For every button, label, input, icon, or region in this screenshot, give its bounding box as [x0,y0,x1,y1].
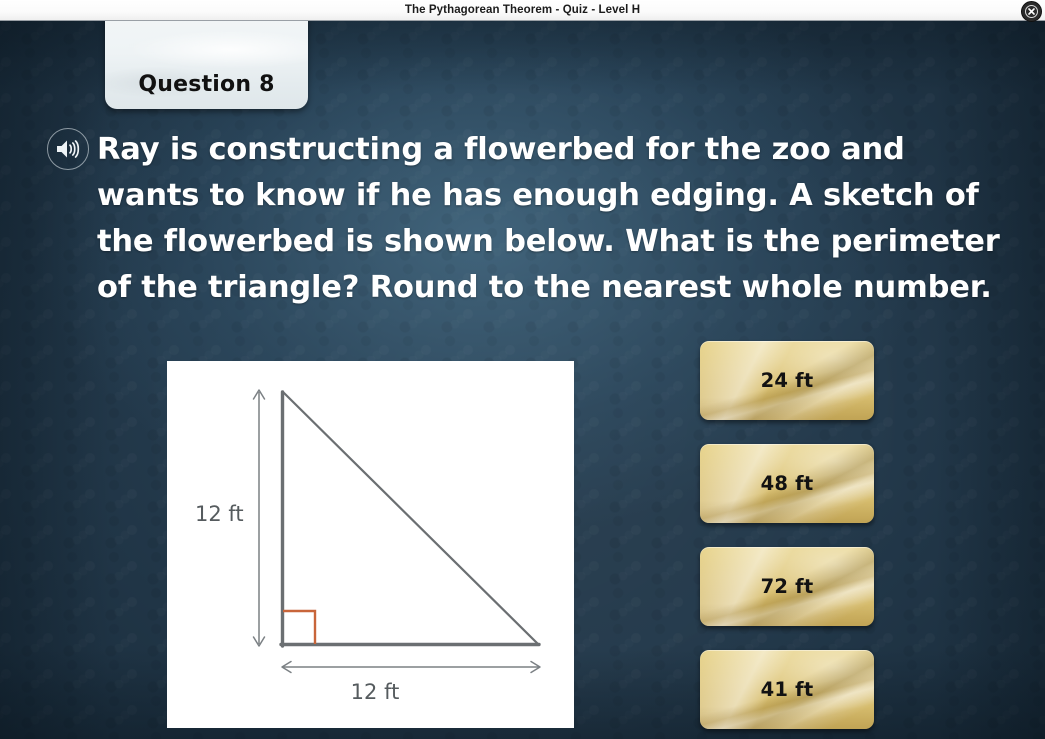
right-triangle-figure: 12 ft 12 ft [167,361,574,728]
question-number-label: Question 8 [138,72,274,97]
speaker-icon [55,138,81,160]
answer-option-1-label: 24 ft [761,369,814,392]
audio-play-button[interactable] [47,128,89,170]
quiz-app-window: The Pythagorean Theorem - Quiz - Level H… [0,0,1045,739]
answer-option-1[interactable]: 24 ft [700,341,874,420]
answer-option-2[interactable]: 48 ft [700,444,874,523]
answer-option-3-label: 72 ft [761,575,814,598]
triangle-hypotenuse [283,392,538,644]
close-button[interactable] [1021,1,1042,22]
answer-choices: 24 ft 48 ft 72 ft 41 ft [700,341,874,739]
triangle-diagram-panel: 12 ft 12 ft [167,361,574,728]
quiz-stage: Question 8 Ray is constructing a flowerb… [0,21,1045,739]
question-prompt-text: Ray is constructing a flowerbed for the … [97,127,1002,311]
answer-option-4-label: 41 ft [761,678,814,701]
vertical-dimension-label: 12 ft [195,502,244,526]
question-number-tab: Question 8 [105,21,308,109]
answer-option-4[interactable]: 41 ft [700,650,874,729]
close-icon [1025,5,1038,18]
answer-option-3[interactable]: 72 ft [700,547,874,626]
right-angle-marker [283,611,315,644]
answer-option-2-label: 48 ft [761,472,814,495]
title-bar: The Pythagorean Theorem - Quiz - Level H [0,0,1045,21]
window-title: The Pythagorean Theorem - Quiz - Level H [405,4,640,16]
horizontal-dimension-label: 12 ft [351,680,400,704]
